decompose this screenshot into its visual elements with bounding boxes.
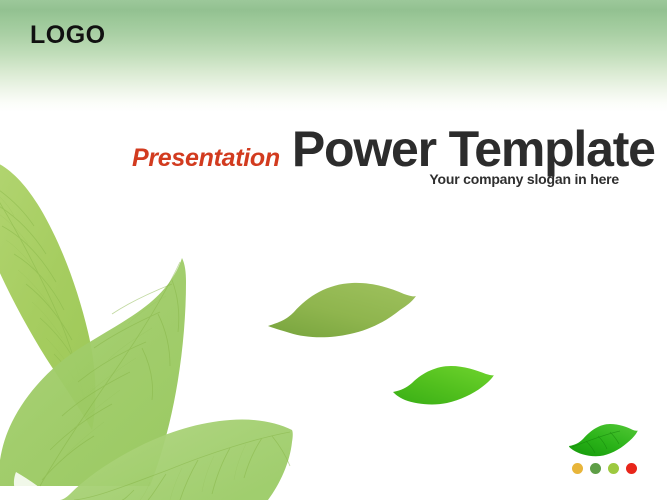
- title-prefix: Presentation: [132, 144, 280, 173]
- floating-leaf-small: [568, 420, 638, 462]
- page-title: Power Template: [292, 124, 655, 174]
- dot-light-green: [608, 463, 619, 474]
- presentation-slide: LOGO: [0, 0, 667, 500]
- floating-leaf-medium: [392, 362, 494, 410]
- dot-green: [590, 463, 601, 474]
- leaf-artwork: [0, 150, 310, 500]
- floating-leaf-large: [266, 278, 416, 344]
- logo-text: LOGO: [30, 23, 106, 48]
- top-gradient-band: [0, 0, 667, 112]
- dot-red: [626, 463, 637, 474]
- company-slogan: Your company slogan in here: [429, 171, 619, 187]
- dot-gold: [572, 463, 583, 474]
- dot-row: [572, 463, 637, 474]
- title-row: Presentation Power Template: [132, 124, 655, 174]
